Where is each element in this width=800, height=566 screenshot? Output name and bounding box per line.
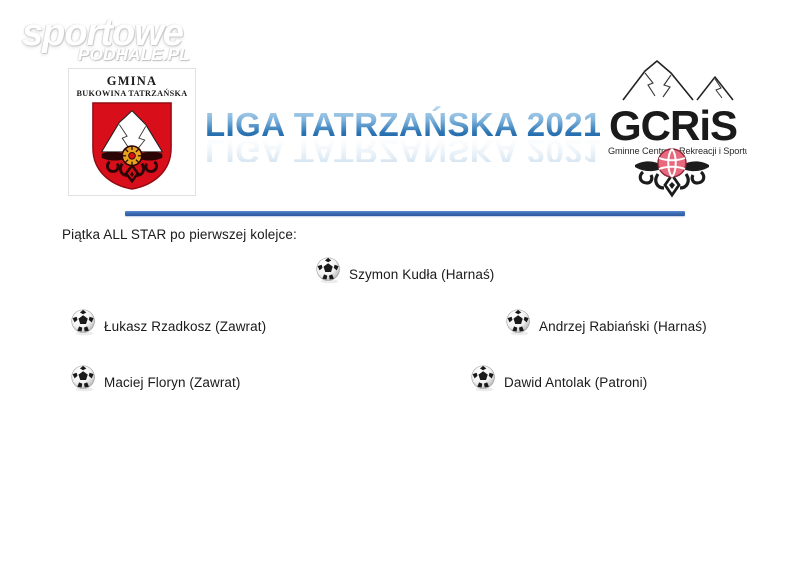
- player-name: Andrzej Rabiański (Harnaś): [533, 319, 707, 336]
- list-item: Andrzej Rabiański (Harnaś): [505, 308, 707, 336]
- red-shield-mountains-rosette-icon: [89, 101, 175, 191]
- sportowe-podhale-watermark: sportowe PODHALE.PL: [14, 12, 214, 74]
- gcris-logo: GCRiS Gminne Centrum Rekreacji i Sportu: [597, 55, 747, 200]
- player-name: Łukasz Rzadkosz (Zawrat): [98, 319, 266, 336]
- list-item: Dawid Antolak (Patroni): [470, 364, 647, 392]
- soccer-ball-icon: [315, 256, 343, 284]
- player-name: Szymon Kudła (Harnaś): [343, 267, 494, 284]
- gmina-logo-title: GMINA: [69, 75, 195, 88]
- soccer-ball-icon: [70, 364, 98, 392]
- soccer-ball-icon: [470, 364, 498, 392]
- soccer-ball-icon: [505, 308, 533, 336]
- watermark-main-text: sportowe: [22, 14, 183, 52]
- page-title: LIGA TATRZAŃSKA 2021-22 LIGA TATRZAŃSKA …: [205, 100, 600, 162]
- list-item: Maciej Floryn (Zawrat): [70, 364, 240, 392]
- list-item: Szymon Kudła (Harnaś): [315, 256, 494, 284]
- volleyball-icon: [658, 149, 686, 177]
- soccer-ball-icon: [70, 308, 98, 336]
- watermark-sub-text: PODHALE.PL: [78, 46, 190, 63]
- player-name: Dawid Antolak (Patroni): [498, 375, 647, 392]
- page-title-text: LIGA TATRZAŃSKA 2021-22: [205, 106, 600, 143]
- all-star-caption: Piątka ALL STAR po pierwszej kolejce:: [62, 227, 297, 242]
- blue-divider-line: [125, 211, 685, 216]
- list-item: Łukasz Rzadkosz (Zawrat): [70, 308, 266, 336]
- gcris-logo-name: GCRiS: [609, 102, 737, 149]
- gmina-logo-subtitle: BUKOWINA TATRZAŃSKA: [69, 90, 195, 98]
- gmina-bukowina-tatrzanska-logo: GMINA BUKOWINA TATRZAŃSKA: [68, 68, 196, 196]
- player-name: Maciej Floryn (Zawrat): [98, 375, 240, 392]
